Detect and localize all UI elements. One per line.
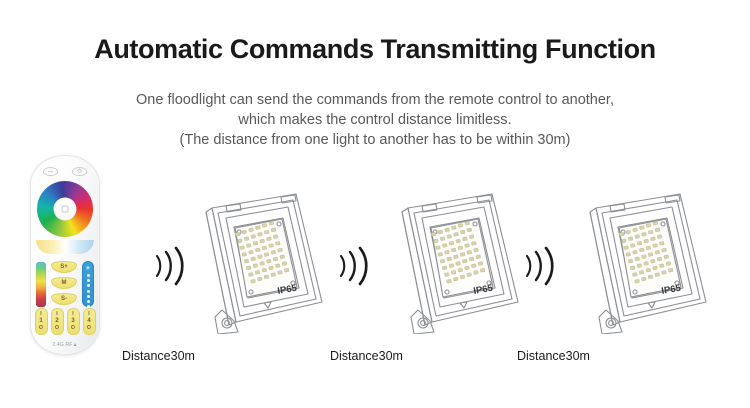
zone-1-off-label: O bbox=[39, 326, 43, 331]
signal-waves-2 bbox=[330, 243, 376, 289]
remote-top-button-row: — ⏻ bbox=[31, 167, 99, 176]
subtitle-line-3: (The distance from one light to another … bbox=[0, 130, 750, 150]
remote-control[interactable]: — ⏻ S+ M S- ☀ bbox=[30, 155, 100, 355]
distance-label-3: Distance30m bbox=[517, 349, 590, 363]
subtitle-line-2: which makes the control distance limitle… bbox=[0, 110, 750, 130]
floodlight-2[interactable]: IP65 bbox=[378, 182, 526, 334]
speed-down-button[interactable]: S- bbox=[51, 293, 77, 305]
power-icon: ⏻ bbox=[73, 169, 86, 174]
zone-button-1[interactable]: I 1 O bbox=[35, 308, 48, 335]
power-button[interactable]: ⏻ bbox=[72, 167, 87, 176]
zone-1-number: 1 bbox=[39, 318, 42, 324]
remote-brand-logo: 2.4G RF▲ bbox=[31, 342, 99, 348]
wifi-icon: ▲ bbox=[73, 342, 78, 348]
zone-4-off-label: O bbox=[87, 326, 91, 331]
color-wheel-center-button[interactable] bbox=[62, 206, 69, 213]
zone-4-on-label: I bbox=[88, 312, 89, 317]
remote-logo-text: 2.4G RF bbox=[52, 342, 72, 348]
distance-label-1: Distance30m bbox=[122, 349, 195, 363]
mode-label: M bbox=[52, 280, 76, 286]
zone-3-on-label: I bbox=[72, 312, 73, 317]
ip-rating-1: IP65 bbox=[277, 283, 299, 297]
ip-rating-3: IP65 bbox=[661, 283, 683, 297]
mode-button-group: S+ M S- bbox=[51, 261, 79, 309]
zone-4-number: 4 bbox=[87, 318, 90, 324]
brightness-slider[interactable]: ☀ bbox=[82, 261, 94, 307]
zone-3-off-label: O bbox=[71, 326, 75, 331]
page-title: Automatic Commands Transmitting Function bbox=[0, 34, 750, 65]
sun-icon: ☀ bbox=[83, 266, 93, 272]
speed-down-label: S- bbox=[52, 296, 76, 302]
color-temperature-slider[interactable] bbox=[36, 240, 94, 254]
zone-2-off-label: O bbox=[55, 326, 59, 331]
zone-1-on-label: I bbox=[40, 312, 41, 317]
distance-label-2: Distance30m bbox=[330, 349, 403, 363]
mode-button[interactable]: M bbox=[51, 277, 77, 289]
zone-button-4[interactable]: I 4 O bbox=[83, 308, 96, 335]
ip-rating-2: IP65 bbox=[473, 283, 495, 297]
floodlight-3[interactable]: IP65 bbox=[566, 182, 714, 334]
subtitle-line-1: One floodlight can send the commands fro… bbox=[0, 90, 750, 110]
rgb-color-strip[interactable] bbox=[36, 262, 46, 307]
dim-button[interactable]: — bbox=[43, 167, 58, 176]
speed-up-label: S+ bbox=[52, 264, 76, 270]
brightness-slider-dots bbox=[83, 274, 93, 308]
dim-icon: — bbox=[44, 169, 57, 174]
zone-button-3[interactable]: I 3 O bbox=[67, 308, 80, 335]
floodlight-1[interactable]: IP65 bbox=[182, 182, 330, 334]
zone-2-number: 2 bbox=[55, 318, 58, 324]
zone-3-number: 3 bbox=[71, 318, 74, 324]
slide-canvas: Automatic Commands Transmitting Function… bbox=[0, 0, 750, 408]
zone-2-on-label: I bbox=[56, 312, 57, 317]
page-subtitle: One floodlight can send the commands fro… bbox=[0, 90, 750, 150]
color-wheel[interactable] bbox=[37, 181, 93, 237]
zone-button-2[interactable]: I 2 O bbox=[51, 308, 64, 335]
speed-up-button[interactable]: S+ bbox=[51, 261, 77, 273]
remote-middle-row: S+ M S- ☀ bbox=[31, 260, 99, 308]
zone-button-group: I 1 O I 2 O I 3 O I 4 O bbox=[31, 308, 99, 335]
signal-waves-3 bbox=[516, 243, 562, 289]
